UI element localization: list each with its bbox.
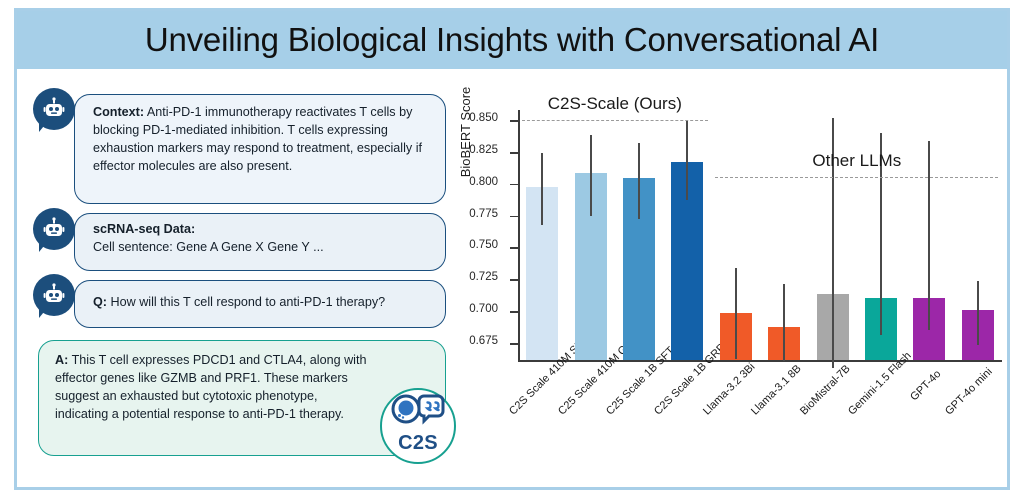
message-question-body: How will this T cell respond to anti-PD-…	[107, 295, 385, 309]
robot-glyph-icon	[42, 283, 66, 307]
x-tick-label: C2S Scale 410M SFT	[507, 368, 556, 417]
message-question-text: Q: How will this T cell respond to anti-…	[75, 281, 445, 312]
x-tick-label: Llama-3.1 8B	[749, 368, 798, 417]
y-tick: 0.825	[510, 152, 518, 154]
error-bar	[590, 135, 592, 215]
message-answer-body: This T cell expresses PDCD1 and CTLA4, a…	[55, 353, 367, 421]
group-underline	[522, 120, 708, 121]
y-tick: 0.775	[510, 216, 518, 218]
error-bar	[638, 143, 640, 219]
message-scrna-data-label: scRNA-seq Data:	[93, 222, 195, 236]
x-axis-spine	[518, 360, 1002, 362]
message-question: Q: How will this T cell respond to anti-…	[74, 280, 446, 328]
y-tick-label: 0.775	[469, 208, 498, 220]
figure-root: Unveiling Biological Insights with Conve…	[0, 0, 1024, 498]
message-scrna-data-text: scRNA-seq Data:Cell sentence: Gene A Gen…	[75, 214, 445, 257]
x-tick-label: Llama-3.2 3Bi	[701, 368, 750, 417]
y-tick-label: 0.750	[469, 239, 498, 251]
y-tick-label: 0.850	[469, 112, 498, 124]
y-tick: 0.800	[510, 184, 518, 186]
message-question-label: Q:	[93, 295, 107, 309]
y-axis-spine	[518, 110, 520, 362]
error-bar	[735, 268, 737, 360]
group-underline	[715, 177, 998, 178]
y-tick-label: 0.800	[469, 176, 498, 188]
y-tick-label: 0.825	[469, 144, 498, 156]
error-bar	[783, 284, 785, 360]
x-tick-label: C2S Scale 1B GRPO	[652, 368, 701, 417]
c2s-logo: C2S	[380, 388, 456, 464]
message-context-label: Context:	[93, 105, 144, 119]
conversation-panel: Context: Anti-PD-1 immunotherapy reactiv…	[28, 88, 460, 478]
group-annotation-label: C2S-Scale (Ours)	[548, 94, 682, 114]
error-bar	[541, 153, 543, 224]
y-tick: 0.725	[510, 279, 518, 281]
message-answer-label: A:	[55, 353, 68, 367]
x-tick-label: GPT-4o mini	[943, 368, 992, 417]
x-tick-label: C25 Scale 410M GRPO	[556, 368, 605, 417]
y-tick: 0.675	[510, 343, 518, 345]
message-scrna-data-body: Cell sentence: Gene A Gene X Gene Y ...	[93, 240, 324, 254]
error-bar	[686, 120, 688, 200]
message-context: Context: Anti-PD-1 immunotherapy reactiv…	[74, 94, 446, 204]
x-tick-label: GPT-4o	[894, 368, 943, 417]
group-annotation-label: Other LLMs	[812, 151, 901, 171]
y-tick: 0.700	[510, 311, 518, 313]
robot-glyph-icon	[42, 97, 66, 121]
robot-icon	[33, 208, 75, 250]
c2s-logo-text: C2S	[382, 432, 454, 455]
y-tick-label: 0.675	[469, 335, 498, 347]
message-scrna-data: scRNA-seq Data:Cell sentence: Gene A Gen…	[74, 213, 446, 271]
robot-icon	[33, 88, 75, 130]
y-tick: 0.750	[510, 247, 518, 249]
message-context-text: Context: Anti-PD-1 immunotherapy reactiv…	[75, 95, 445, 176]
error-bar	[928, 141, 930, 331]
y-tick-label: 0.700	[469, 303, 498, 315]
x-tick-label: BioMistral-7B	[798, 368, 847, 417]
x-tick-label: Gemini-1.5 Flash	[846, 368, 895, 417]
error-bar	[977, 281, 979, 346]
y-tick-label: 0.725	[469, 271, 498, 283]
page-title: Unveiling Biological Insights with Conve…	[145, 21, 879, 59]
c2s-cell-chat-icon	[382, 390, 452, 430]
biobert-score-chart: BioBERT Score 0.6750.7000.7250.7500.7750…	[462, 82, 1010, 486]
y-tick: 0.850	[510, 120, 518, 122]
plot-area: 0.6750.7000.7250.7500.7750.8000.8250.850…	[518, 110, 1002, 362]
x-tick-label: C25 Scale 1B SFT	[604, 368, 653, 417]
title-banner: Unveiling Biological Insights with Conve…	[17, 11, 1007, 69]
robot-glyph-icon	[42, 217, 66, 241]
robot-icon	[33, 274, 75, 316]
